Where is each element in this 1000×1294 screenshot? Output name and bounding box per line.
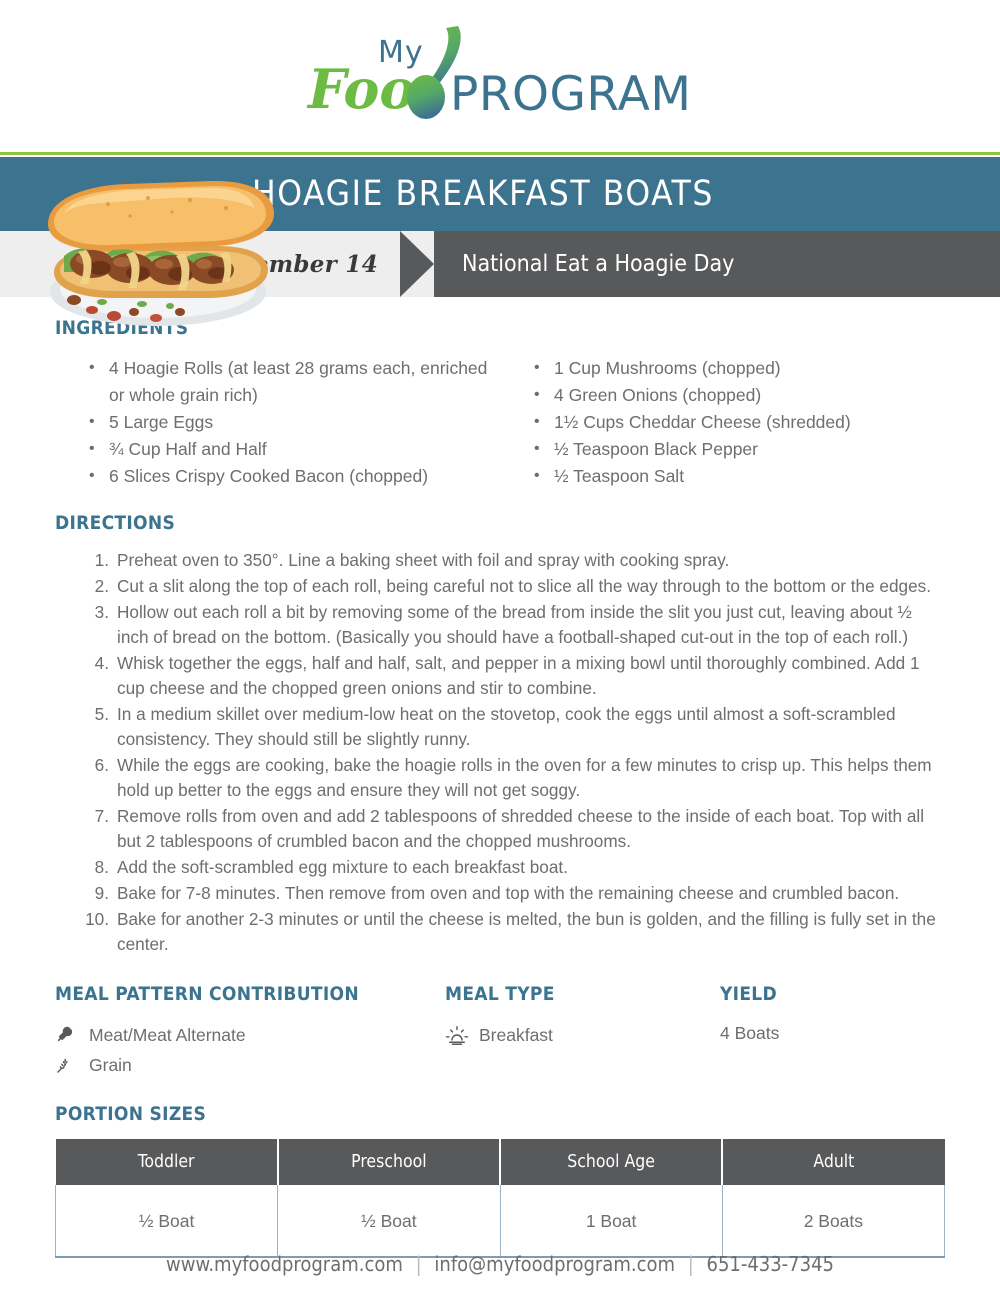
meta-row: MEAL PATTERN CONTRIBUTION Meat/Meat Alte… xyxy=(55,983,945,1077)
yield-section: YIELD 4 Boats xyxy=(720,983,945,1077)
portion-sizes-heading: PORTION SIZES xyxy=(55,1103,945,1125)
hoagie-sandwich-image xyxy=(30,160,280,332)
column-header: School Age xyxy=(500,1139,722,1185)
logo-artwork: My Foo PROGRAM xyxy=(300,26,700,126)
list-item: 6 Slices Crispy Cooked Bacon (chopped) xyxy=(85,463,500,490)
list-item: 1 Cup Mushrooms (chopped) xyxy=(530,355,945,382)
footer-phone: 651-433-7345 xyxy=(707,1252,834,1276)
list-item: Whisk together the eggs, half and half, … xyxy=(85,651,945,701)
table-cell: ½ Boat xyxy=(56,1185,278,1257)
portion-sizes-table: Toddler Preschool School Age Adult ½ Boa… xyxy=(55,1139,945,1258)
meal-type-heading: MEAL TYPE xyxy=(445,983,720,1005)
list-item: 4 Green Onions (chopped) xyxy=(530,382,945,409)
list-item: Preheat oven to 350°. Line a baking shee… xyxy=(85,548,945,573)
recipe-page: My Foo PROGRAM HOAGIE BREAKFAST BOATS Se… xyxy=(0,0,1000,1294)
list-item: Remove rolls from oven and add 2 tablesp… xyxy=(85,804,945,854)
column-header: Adult xyxy=(722,1139,944,1185)
meal-pattern-label: Grain xyxy=(89,1053,132,1077)
brand-logo: My Foo PROGRAM xyxy=(0,0,1000,152)
svg-text:Foo: Foo xyxy=(306,57,415,121)
list-item: Bake for 7-8 minutes. Then remove from o… xyxy=(85,881,945,906)
svg-text:PROGRAM: PROGRAM xyxy=(450,67,691,122)
list-item: Hollow out each roll a bit by removing s… xyxy=(85,600,945,650)
list-item: Bake for another 2-3 minutes or until th… xyxy=(85,907,945,957)
holiday-banner: National Eat a Hoagie Day xyxy=(434,231,1000,297)
list-item: ½ Teaspoon Salt xyxy=(530,463,945,490)
meal-type-section: MEAL TYPE Bre xyxy=(445,983,720,1077)
portion-sizes-section: PORTION SIZES Toddler Preschool School A… xyxy=(55,1103,945,1258)
directions-section: DIRECTIONS Preheat oven to 350°. Line a … xyxy=(55,512,945,957)
table-cell: 1 Boat xyxy=(500,1185,722,1257)
meal-pattern-section: MEAL PATTERN CONTRIBUTION Meat/Meat Alte… xyxy=(55,983,445,1077)
drumstick-icon xyxy=(55,1024,81,1046)
meal-pattern-heading: MEAL PATTERN CONTRIBUTION xyxy=(55,983,445,1005)
hoagie-illustration xyxy=(30,160,280,332)
list-item: Add the soft-scrambled egg mixture to ea… xyxy=(85,855,945,880)
list-item: 4 Hoagie Rolls (at least 28 grams each, … xyxy=(85,355,500,409)
list-item: In a medium skillet over medium-low heat… xyxy=(85,702,945,752)
recipe-title: HOAGIE BREAKFAST BOATS xyxy=(252,174,714,214)
table-header-row: Toddler Preschool School Age Adult xyxy=(56,1139,945,1185)
yield-value: 4 Boats xyxy=(720,1023,945,1044)
meal-pattern-item-grain: Grain xyxy=(55,1053,445,1077)
yield-heading: YIELD xyxy=(720,983,945,1005)
table-cell: 2 Boats xyxy=(722,1185,944,1257)
ingredients-column-right: 1 Cup Mushrooms (chopped) 4 Green Onions… xyxy=(500,355,945,490)
footer-contact: www.myfoodprogram.com | info@myfoodprogr… xyxy=(0,1252,1000,1276)
table-row: ½ Boat ½ Boat 1 Boat 2 Boats xyxy=(56,1185,945,1257)
holiday-label: National Eat a Hoagie Day xyxy=(462,251,734,277)
chevron-divider xyxy=(400,231,434,297)
meal-pattern-item-meat: Meat/Meat Alternate xyxy=(55,1023,445,1047)
meal-pattern-label: Meat/Meat Alternate xyxy=(89,1023,246,1047)
directions-list: Preheat oven to 350°. Line a baking shee… xyxy=(55,548,945,957)
sunrise-icon xyxy=(445,1024,471,1046)
footer-website[interactable]: www.myfoodprogram.com xyxy=(166,1252,403,1276)
meal-type-label: Breakfast xyxy=(479,1023,553,1047)
column-header: Preschool xyxy=(278,1139,500,1185)
recipe-body: INGREDIENTS 4 Hoagie Rolls (at least 28 … xyxy=(0,317,1000,1258)
list-item: ½ Teaspoon Black Pepper xyxy=(530,436,945,463)
list-item: While the eggs are cooking, bake the hoa… xyxy=(85,753,945,803)
wheat-icon xyxy=(55,1054,81,1076)
ingredients-column-left: 4 Hoagie Rolls (at least 28 grams each, … xyxy=(55,355,500,490)
column-header: Toddler xyxy=(56,1139,278,1185)
footer-separator: | xyxy=(416,1252,422,1276)
list-item: 5 Large Eggs xyxy=(85,409,500,436)
directions-heading: DIRECTIONS xyxy=(55,512,945,534)
ingredients-section: INGREDIENTS 4 Hoagie Rolls (at least 28 … xyxy=(55,317,945,490)
meal-type-value-row: Breakfast xyxy=(445,1023,720,1047)
list-item: ¾ Cup Half and Half xyxy=(85,436,500,463)
footer-separator: | xyxy=(688,1252,694,1276)
list-item: 1½ Cups Cheddar Cheese (shredded) xyxy=(530,409,945,436)
footer-email[interactable]: info@myfoodprogram.com xyxy=(434,1252,675,1276)
list-item: Cut a slit along the top of each roll, b… xyxy=(85,574,945,599)
table-cell: ½ Boat xyxy=(278,1185,500,1257)
